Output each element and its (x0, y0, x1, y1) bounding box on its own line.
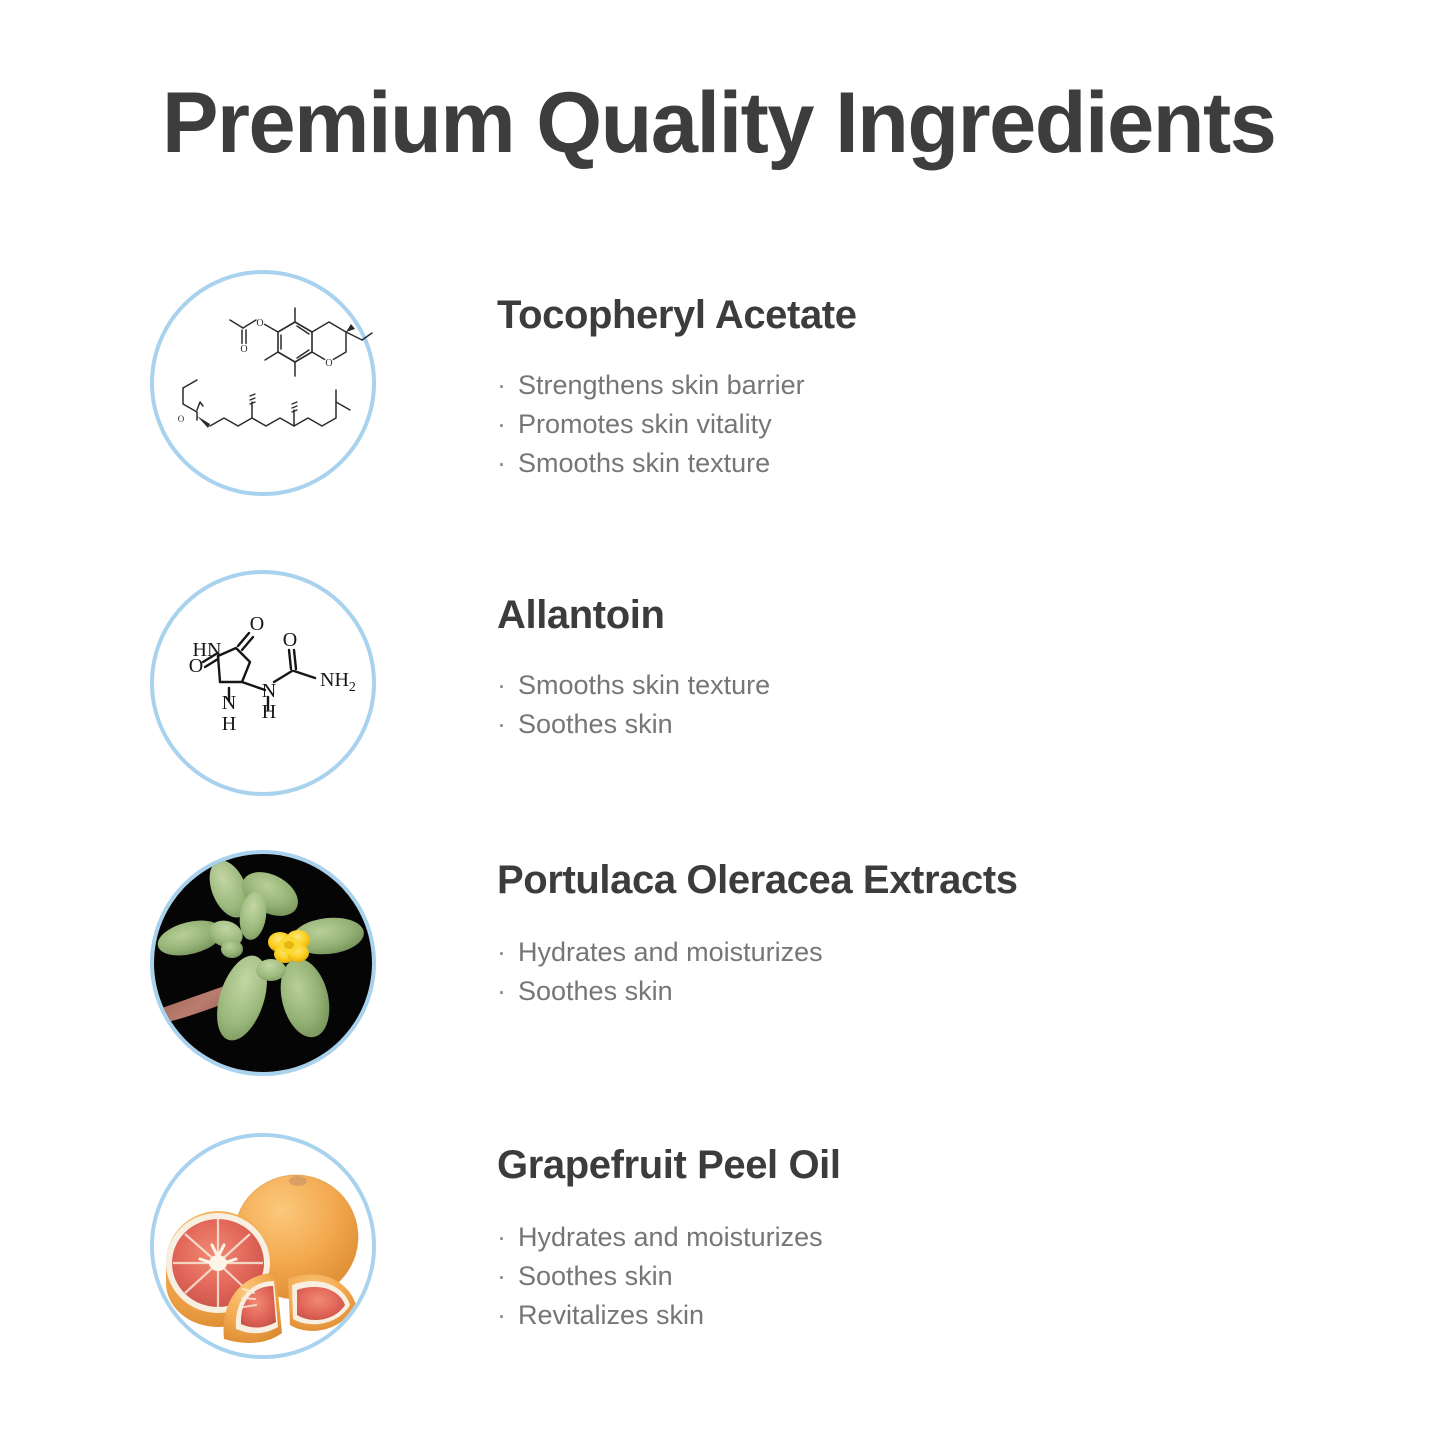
benefit-text: Revitalizes skin (518, 1300, 704, 1330)
tocopheryl-acetate-structure-icon: O O O (150, 270, 376, 496)
allantoin-structure-icon: HN O O O N H N H NH2 (150, 570, 376, 796)
ingredient-media-tocopheryl-acetate: O O O (150, 270, 376, 496)
bullet-icon: · (497, 1257, 518, 1296)
benefit-text: Smooths skin texture (518, 670, 770, 700)
benefit-list: ·Hydrates and moisturizes ·Soothes skin … (497, 1218, 1377, 1335)
label-o-left: O (189, 655, 203, 677)
ingredient-text-block: Tocopheryl Acetate ·Strengthens skin bar… (497, 265, 1377, 483)
ingredient-media-purslane (150, 850, 376, 1076)
bullet-icon: · (497, 405, 518, 444)
svg-text:O: O (178, 414, 185, 424)
benefit-text: Soothes skin (518, 709, 673, 739)
label-o-amide: O (283, 629, 297, 651)
bullet-icon: · (497, 444, 518, 483)
ingredient-media-allantoin: HN O O O N H N H NH2 (150, 570, 376, 796)
bullet-icon: · (497, 972, 518, 1011)
ingredient-name: Grapefruit Peel Oil (497, 1128, 1377, 1187)
benefit-text: Smooths skin texture (518, 448, 770, 478)
benefit-list: ·Strengthens skin barrier ·Promotes skin… (497, 366, 1377, 483)
benefit-item: ·Soothes skin (497, 1257, 1377, 1296)
benefit-item: ·Hydrates and moisturizes (497, 933, 1377, 972)
svg-text:O: O (325, 358, 332, 369)
ingredient-name: Portulaca Oleracea Extracts (497, 845, 1377, 902)
label-o-top: O (250, 613, 264, 635)
benefit-text: Hydrates and moisturizes (518, 1222, 823, 1252)
page-title: Premium Quality Ingredients (162, 78, 1275, 168)
bullet-icon: · (497, 666, 518, 705)
grapefruit-photo-icon (150, 1133, 376, 1359)
benefit-item: ·Revitalizes skin (497, 1296, 1377, 1335)
svg-text:O: O (256, 318, 263, 329)
ingredient-media-grapefruit (150, 1133, 376, 1359)
bullet-icon: · (497, 1296, 518, 1335)
label-nh2: NH2 (320, 669, 356, 695)
label-n-ring: N (222, 692, 236, 714)
ingredient-text-block: Allantoin ·Smooths skin texture ·Soothes… (497, 565, 1377, 744)
label-n-amide: N (262, 680, 276, 702)
benefit-text: Soothes skin (518, 1261, 673, 1291)
purslane-plant-photo-icon (150, 850, 376, 1076)
bullet-icon: · (497, 705, 518, 744)
benefit-text: Strengthens skin barrier (518, 370, 805, 400)
bullet-icon: · (497, 933, 518, 972)
ingredients-infographic: Premium Quality Ingredients O (0, 0, 1445, 1445)
label-h-ring: H (222, 713, 236, 735)
label-h-amide: H (262, 701, 276, 723)
bullet-icon: · (497, 1218, 518, 1257)
benefit-text: Soothes skin (518, 976, 673, 1006)
benefit-item: ·Smooths skin texture (497, 444, 1377, 483)
ingredient-text-block: Grapefruit Peel Oil ·Hydrates and moistu… (497, 1128, 1377, 1335)
svg-text:O: O (240, 344, 247, 355)
benefit-item: ·Soothes skin (497, 972, 1377, 1011)
benefit-list: ·Hydrates and moisturizes ·Soothes skin (497, 933, 1377, 1011)
benefit-item: ·Strengthens skin barrier (497, 366, 1377, 405)
benefit-item: ·Soothes skin (497, 705, 1377, 744)
bullet-icon: · (497, 366, 518, 405)
ingredient-name: Allantoin (497, 565, 1377, 637)
benefit-text: Promotes skin vitality (518, 409, 772, 439)
benefit-item: ·Hydrates and moisturizes (497, 1218, 1377, 1257)
benefit-item: ·Promotes skin vitality (497, 405, 1377, 444)
benefit-item: ·Smooths skin texture (497, 666, 1377, 705)
benefit-text: Hydrates and moisturizes (518, 937, 823, 967)
ingredient-text-block: Portulaca Oleracea Extracts ·Hydrates an… (497, 845, 1377, 1011)
benefit-list: ·Smooths skin texture ·Soothes skin (497, 666, 1377, 744)
ingredient-name: Tocopheryl Acetate (497, 265, 1377, 337)
